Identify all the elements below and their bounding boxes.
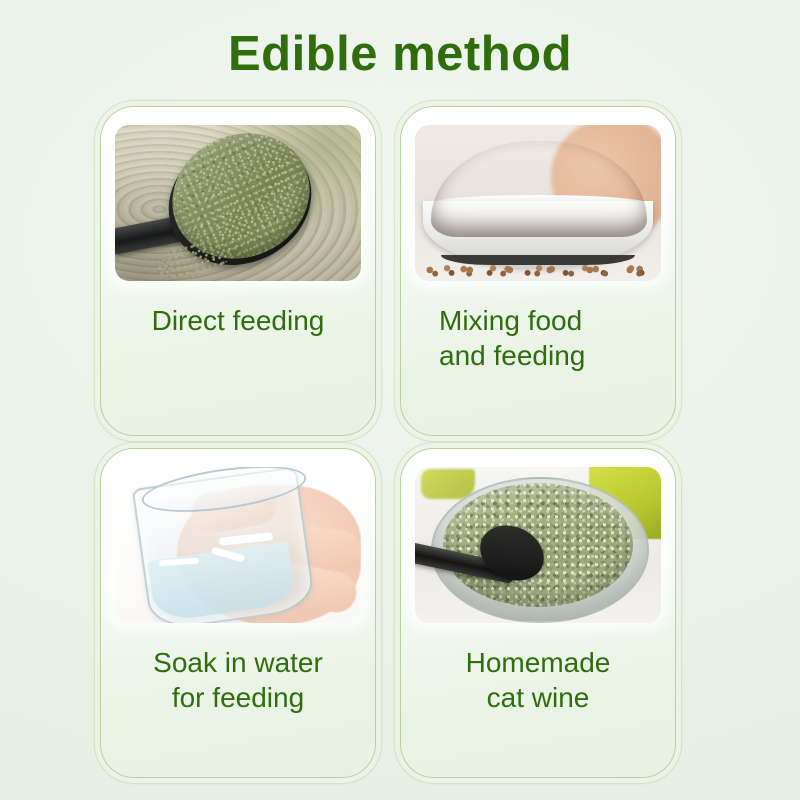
caption-mixing-food: Mixing food and feeding: [401, 303, 675, 374]
hand-glass-water-image: [115, 467, 361, 623]
caption-homemade-cat-wine: Homemade cat wine: [401, 645, 675, 716]
caption-direct-feeding: Direct feeding: [101, 303, 375, 338]
photo-soak-in-water: [115, 467, 361, 623]
caption-soak-in-water: Soak in water for feeding: [101, 645, 375, 716]
spoon-powder-image: [115, 125, 361, 281]
photo-homemade-cat-wine: [415, 467, 661, 623]
photo-direct-feeding: [115, 125, 361, 281]
method-card-mixing-food[interactable]: Mixing food and feeding: [400, 106, 676, 436]
method-card-soak-in-water[interactable]: Soak in water for feeding: [100, 448, 376, 778]
method-card-direct-feeding[interactable]: Direct feeding: [100, 106, 376, 436]
kibble-bowl-image: [415, 125, 661, 281]
method-card-grid: Direct feeding Mixing food and fe: [100, 106, 676, 778]
photo-mixing-food: [415, 125, 661, 281]
green-powder-bowl-image: [415, 467, 661, 623]
page-title: Edible method: [0, 28, 800, 82]
method-card-homemade-cat-wine[interactable]: Homemade cat wine: [400, 448, 676, 778]
promo-poster: Edible method Direct feeding: [0, 0, 800, 800]
